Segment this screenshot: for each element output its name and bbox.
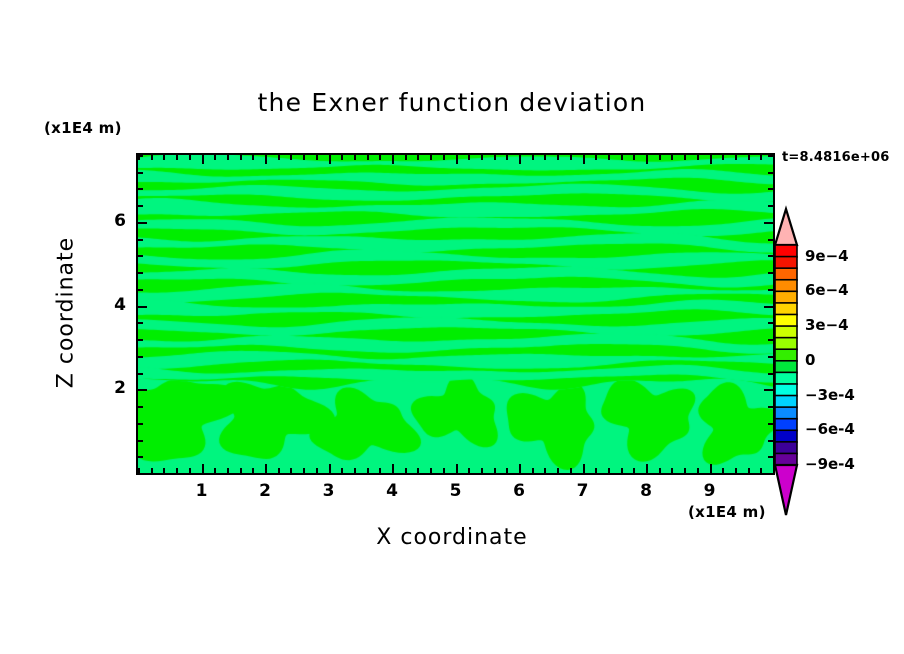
axis-tick xyxy=(710,155,712,164)
x-axis-title: X coordinate xyxy=(0,525,904,550)
axis-tick xyxy=(456,155,458,164)
axis-tick xyxy=(697,468,699,473)
colorbar-band xyxy=(775,245,797,257)
axis-tick xyxy=(138,473,143,475)
axis-tick xyxy=(684,155,686,160)
y-tick-label: 4 xyxy=(86,295,126,315)
axis-tick xyxy=(430,468,432,473)
axis-tick xyxy=(456,464,458,473)
axis-tick xyxy=(265,155,267,164)
axis-tick xyxy=(443,155,445,160)
axis-tick xyxy=(768,155,773,157)
colorbar-band xyxy=(775,291,797,303)
colorbar-band xyxy=(775,326,797,338)
colorbar-band xyxy=(775,442,797,454)
axis-tick xyxy=(240,468,242,473)
axis-tick xyxy=(417,155,419,160)
axis-tick xyxy=(532,468,534,473)
axis-tick xyxy=(768,188,773,190)
axis-tick xyxy=(494,155,496,160)
colorbar-band xyxy=(775,268,797,280)
axis-tick xyxy=(138,289,143,291)
y-tick-label: 6 xyxy=(86,211,126,231)
y-axis-unit-label: (x1E4 m) xyxy=(44,119,122,137)
axis-tick xyxy=(722,155,724,160)
axis-tick xyxy=(202,464,204,473)
axis-tick xyxy=(189,155,191,160)
axis-tick xyxy=(519,464,521,473)
axis-tick xyxy=(659,155,661,160)
colorbar-band xyxy=(775,430,797,442)
axis-tick xyxy=(163,468,165,473)
contour-plot-area xyxy=(136,153,775,475)
axis-tick xyxy=(405,468,407,473)
axis-tick xyxy=(633,468,635,473)
colorbar-band xyxy=(775,407,797,419)
axis-tick xyxy=(367,155,369,160)
colorbar-band xyxy=(775,303,797,315)
axis-tick xyxy=(265,464,267,473)
x-tick-label: 8 xyxy=(626,481,666,501)
colorbar-band xyxy=(775,396,797,408)
timestamp-label: t=8.4816e+06 xyxy=(782,150,889,165)
axis-tick xyxy=(227,468,229,473)
colorbar-band xyxy=(775,349,797,361)
axis-tick xyxy=(252,468,254,473)
axis-tick xyxy=(151,468,153,473)
axis-tick xyxy=(621,468,623,473)
axis-tick xyxy=(583,155,585,164)
axis-tick xyxy=(329,464,331,473)
axis-tick xyxy=(392,155,394,164)
axis-tick xyxy=(417,468,419,473)
axis-tick xyxy=(138,239,143,241)
x-tick-label: 1 xyxy=(182,481,222,501)
axis-tick xyxy=(646,464,648,473)
axis-tick xyxy=(354,468,356,473)
axis-tick xyxy=(748,468,750,473)
contour-field-canvas xyxy=(138,155,773,473)
colorbar-over-range-cap xyxy=(775,209,797,245)
colorbar-tick-label: −6e-4 xyxy=(805,420,855,438)
axis-tick xyxy=(290,468,292,473)
colorbar-tick-label: 9e−4 xyxy=(805,247,849,265)
axis-tick xyxy=(290,155,292,160)
axis-tick xyxy=(494,468,496,473)
axis-tick xyxy=(176,155,178,160)
axis-tick xyxy=(316,155,318,160)
axis-tick xyxy=(278,155,280,160)
axis-tick xyxy=(138,440,143,442)
axis-tick xyxy=(392,464,394,473)
axis-tick xyxy=(621,155,623,160)
axis-tick xyxy=(227,155,229,160)
colorbar-band xyxy=(775,384,797,396)
axis-tick xyxy=(468,468,470,473)
axis-tick xyxy=(202,155,204,164)
axis-tick xyxy=(405,155,407,160)
colorbar-tick-label: −3e-4 xyxy=(805,386,855,404)
axis-tick xyxy=(722,468,724,473)
axis-tick xyxy=(583,464,585,473)
axis-tick xyxy=(138,373,143,375)
axis-tick xyxy=(138,306,147,308)
axis-tick xyxy=(468,155,470,160)
axis-tick xyxy=(443,468,445,473)
x-tick-label: 2 xyxy=(245,481,285,501)
axis-tick xyxy=(608,155,610,160)
axis-tick xyxy=(379,155,381,160)
x-tick-label: 3 xyxy=(309,481,349,501)
axis-tick xyxy=(367,468,369,473)
axis-tick xyxy=(557,468,559,473)
axis-tick xyxy=(570,155,572,160)
plot-page: the Exner function deviation (x1E4 m) t=… xyxy=(0,0,904,654)
axis-tick xyxy=(138,456,143,458)
x-tick-label: 9 xyxy=(690,481,730,501)
axis-tick xyxy=(303,468,305,473)
axis-tick xyxy=(735,468,737,473)
axis-tick xyxy=(138,272,143,274)
colorbar-tick-label: 0 xyxy=(805,351,815,369)
axis-tick xyxy=(138,205,143,207)
axis-tick xyxy=(506,468,508,473)
axis-tick xyxy=(633,155,635,160)
axis-tick xyxy=(760,155,762,160)
axis-tick xyxy=(608,468,610,473)
axis-tick xyxy=(519,155,521,164)
page-title: the Exner function deviation xyxy=(0,88,904,117)
axis-tick xyxy=(138,389,147,391)
colorbar-band xyxy=(775,338,797,350)
colorbar-under-range-cap xyxy=(775,465,797,515)
x-tick-label: 4 xyxy=(372,481,412,501)
axis-tick xyxy=(748,155,750,160)
axis-tick xyxy=(329,155,331,164)
axis-tick xyxy=(214,468,216,473)
axis-tick xyxy=(163,155,165,160)
axis-tick xyxy=(138,322,143,324)
axis-tick xyxy=(773,155,775,160)
colorbar-band xyxy=(775,361,797,373)
axis-tick xyxy=(595,468,597,473)
colorbar-band xyxy=(775,419,797,431)
colorbar-band xyxy=(775,372,797,384)
x-axis-unit-label: (x1E4 m) xyxy=(688,503,766,521)
axis-tick xyxy=(176,468,178,473)
axis-tick xyxy=(189,468,191,473)
x-tick-label: 6 xyxy=(499,481,539,501)
axis-tick xyxy=(138,172,143,174)
axis-tick xyxy=(354,155,356,160)
axis-tick xyxy=(379,468,381,473)
axis-tick xyxy=(138,155,143,157)
y-tick-label: 2 xyxy=(86,378,126,398)
axis-tick xyxy=(671,468,673,473)
axis-tick xyxy=(341,468,343,473)
axis-tick xyxy=(768,172,773,174)
colorbar-band xyxy=(775,314,797,326)
axis-tick xyxy=(138,222,147,224)
y-axis-title: Z coordinate xyxy=(54,223,79,403)
colorbar-band xyxy=(775,453,797,465)
axis-tick xyxy=(430,155,432,160)
axis-tick xyxy=(303,155,305,160)
axis-tick xyxy=(341,155,343,160)
axis-tick xyxy=(735,155,737,160)
colorbar: 9e−46e−43e−40−3e-4−6e-4−9e-4 xyxy=(770,203,830,523)
axis-tick xyxy=(710,464,712,473)
axis-tick xyxy=(138,339,143,341)
axis-tick xyxy=(671,155,673,160)
axis-tick xyxy=(659,468,661,473)
axis-tick xyxy=(151,155,153,160)
colorbar-band xyxy=(775,280,797,292)
axis-tick xyxy=(481,155,483,160)
axis-tick xyxy=(646,155,648,164)
colorbar-tick-label: 6e−4 xyxy=(805,281,849,299)
axis-tick xyxy=(544,155,546,160)
axis-tick xyxy=(214,155,216,160)
axis-tick xyxy=(595,155,597,160)
axis-tick xyxy=(138,188,143,190)
axis-tick xyxy=(252,155,254,160)
axis-tick xyxy=(697,155,699,160)
axis-tick xyxy=(138,423,143,425)
colorbar-tick-label: −9e-4 xyxy=(805,455,855,473)
axis-tick xyxy=(760,468,762,473)
axis-tick xyxy=(684,468,686,473)
x-tick-label: 7 xyxy=(563,481,603,501)
axis-tick xyxy=(544,468,546,473)
axis-tick xyxy=(316,468,318,473)
axis-tick xyxy=(138,255,143,257)
axis-tick xyxy=(481,468,483,473)
axis-tick xyxy=(278,468,280,473)
axis-tick xyxy=(570,468,572,473)
colorbar-tick-label: 3e−4 xyxy=(805,316,849,334)
axis-tick xyxy=(138,406,143,408)
axis-tick xyxy=(557,155,559,160)
colorbar-band xyxy=(775,257,797,269)
axis-tick xyxy=(240,155,242,160)
axis-tick xyxy=(532,155,534,160)
axis-tick xyxy=(138,356,143,358)
axis-tick xyxy=(506,155,508,160)
x-tick-label: 5 xyxy=(436,481,476,501)
